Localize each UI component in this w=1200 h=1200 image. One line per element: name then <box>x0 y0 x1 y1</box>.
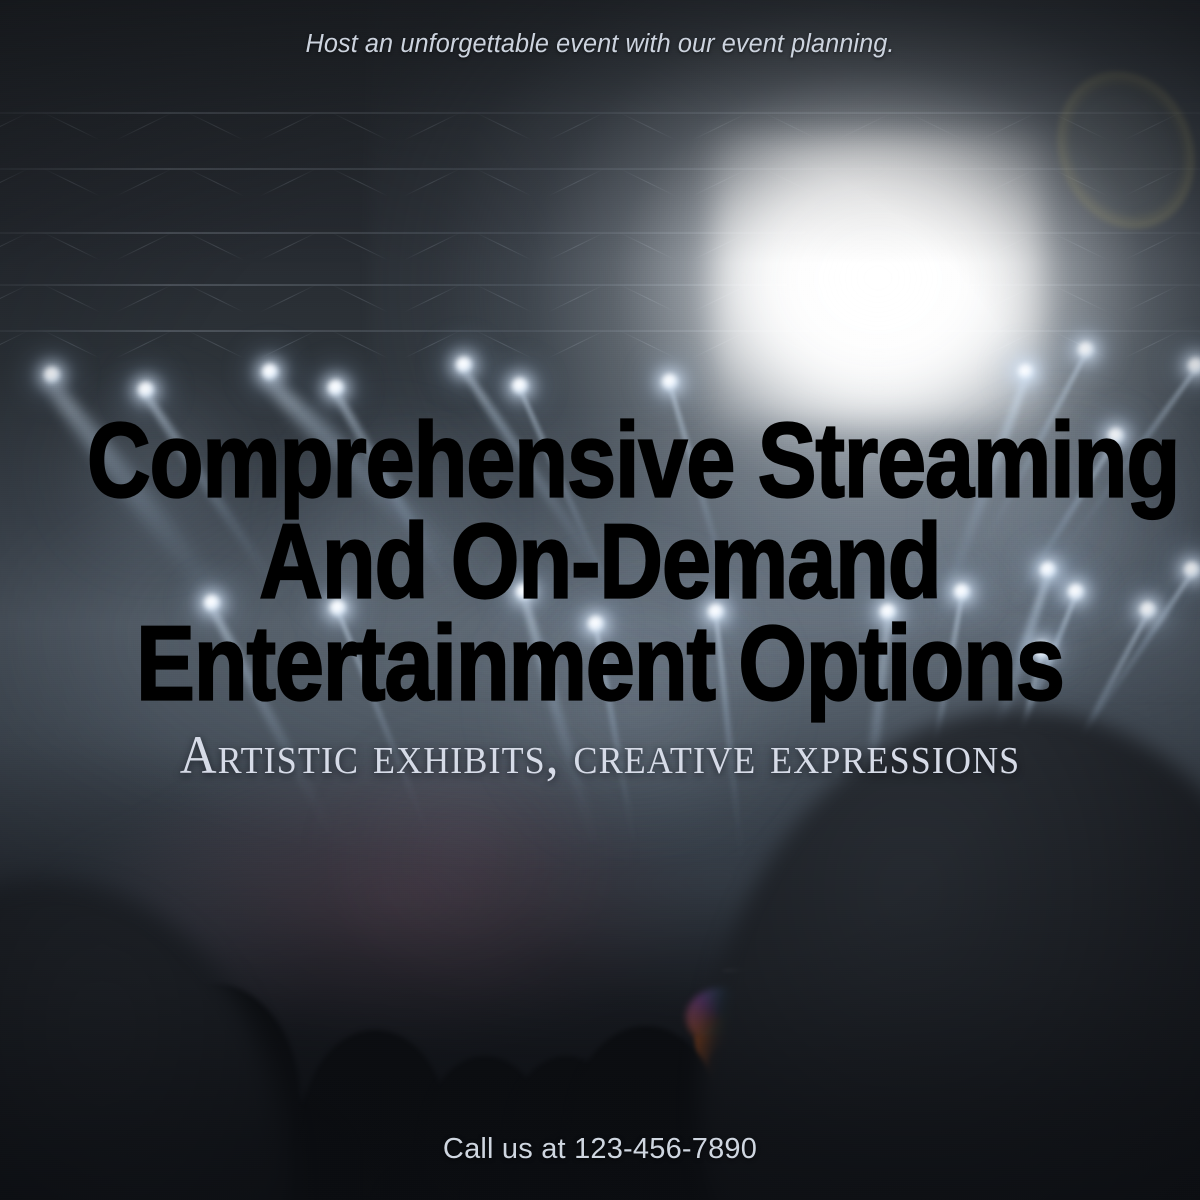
tagline: Host an unforgettable event with our eve… <box>6 30 1194 59</box>
headline-line-3: Entertainment Options <box>87 611 1113 715</box>
headline-line-1: Comprehensive Streaming <box>87 408 1113 512</box>
subtitle: Artistic exhibits, creative expressions <box>0 725 1200 786</box>
poster-content: Host an unforgettable event with our eve… <box>0 0 1200 1200</box>
poster-canvas: Host an unforgettable event with our eve… <box>0 0 1200 1200</box>
page-title: Comprehensive Streaming And On-Demand En… <box>0 408 1200 712</box>
headline-line-2: And On-Demand <box>87 509 1113 613</box>
contact-phone-text: Call us at 123-456-7890 <box>0 1133 1200 1166</box>
